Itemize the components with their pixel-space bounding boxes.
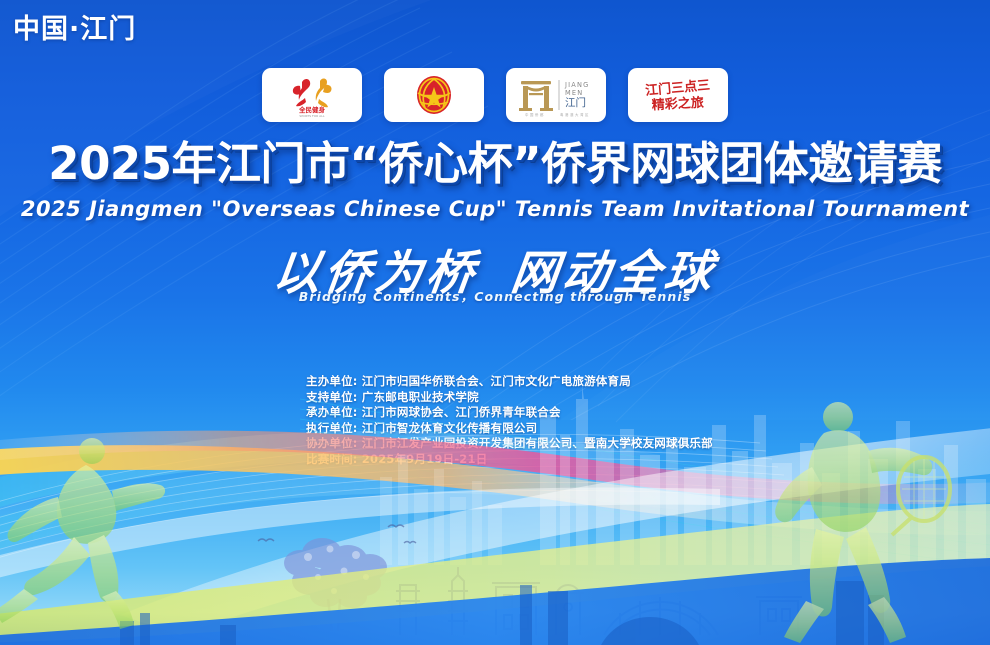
logo-badge-jiangmen-city[interactable]: JIANG MEN 江门 中国侨都 粤港澳大湾区 [506,68,606,122]
jiangmen-gate-icon: JIANG MEN 江门 中国侨都 粤港澳大湾区 [513,72,599,118]
organizer-line: 支持单位: 广东邮电职业技术学院 [306,390,713,406]
svg-text:粤港澳大湾区: 粤港澳大湾区 [560,112,590,117]
running-athlete-silhouette [0,438,165,629]
organizer-info-block: 主办单位: 江门市归国华侨联合会、江门市文化广电旅游体育局 支持单位: 广东邮电… [306,374,713,467]
svg-text:精彩之旅: 精彩之旅 [651,95,704,114]
svg-text:JIANG: JIANG [564,81,589,89]
organizer-line: 主办单位: 江门市归国华侨联合会、江门市文化广电旅游体育局 [306,374,713,390]
landmark-silhouettes [396,567,802,635]
sponsor-logo-strip: 全民健身 SPORTS FOR ALL [0,68,990,122]
qiaolian-emblem-icon [413,74,455,116]
logo-badge-sandiansan[interactable]: 江门三点三 精彩之旅 [628,68,728,122]
organizer-line: 承办单位: 江门市网球协会、江门侨界青年联合会 [306,405,713,421]
page-subtitle-english: 2025 Jiangmen "Overseas Chinese Cup" Ten… [0,197,990,221]
svg-text:中国侨都: 中国侨都 [525,112,545,117]
slogan-english: Bridging Continents，Connecting through T… [0,286,990,305]
logo-badge-quanmin-jianshen[interactable]: 全民健身 SPORTS FOR ALL [262,68,362,122]
quanmin-jianshen-icon: 全民健身 SPORTS FOR ALL [280,72,344,118]
page-title: 2025年江门市“侨心杯”侨界网球团体邀请赛 [0,141,990,186]
sandiansan-calligraphy-icon: 江门三点三 精彩之旅 [639,72,717,118]
svg-text:全民健身: 全民健身 [298,105,326,114]
logo-badge-qiaolian-emblem[interactable] [384,68,484,122]
event-poster: 中国·江门 全民健身 SPORTS FOR ALL [0,0,990,645]
tennis-player-silhouette [775,402,932,643]
city-label: 中国·江门 [13,7,136,46]
svg-text:MEN: MEN [565,89,583,97]
tree-cluster [284,538,387,608]
svg-text:江门: 江门 [565,96,586,109]
event-date-line: 比赛时间: 2025年9月19日-21日 [306,452,713,468]
tennis-racket [892,457,950,535]
organizer-line: 协办单位: 江门市江发产业园投资开发集团有限公司、暨南大学校友网球俱乐部 [306,436,713,452]
organizer-line: 执行单位: 江门市智龙体育文化传播有限公司 [306,421,713,437]
svg-text:SPORTS FOR ALL: SPORTS FOR ALL [299,114,324,118]
